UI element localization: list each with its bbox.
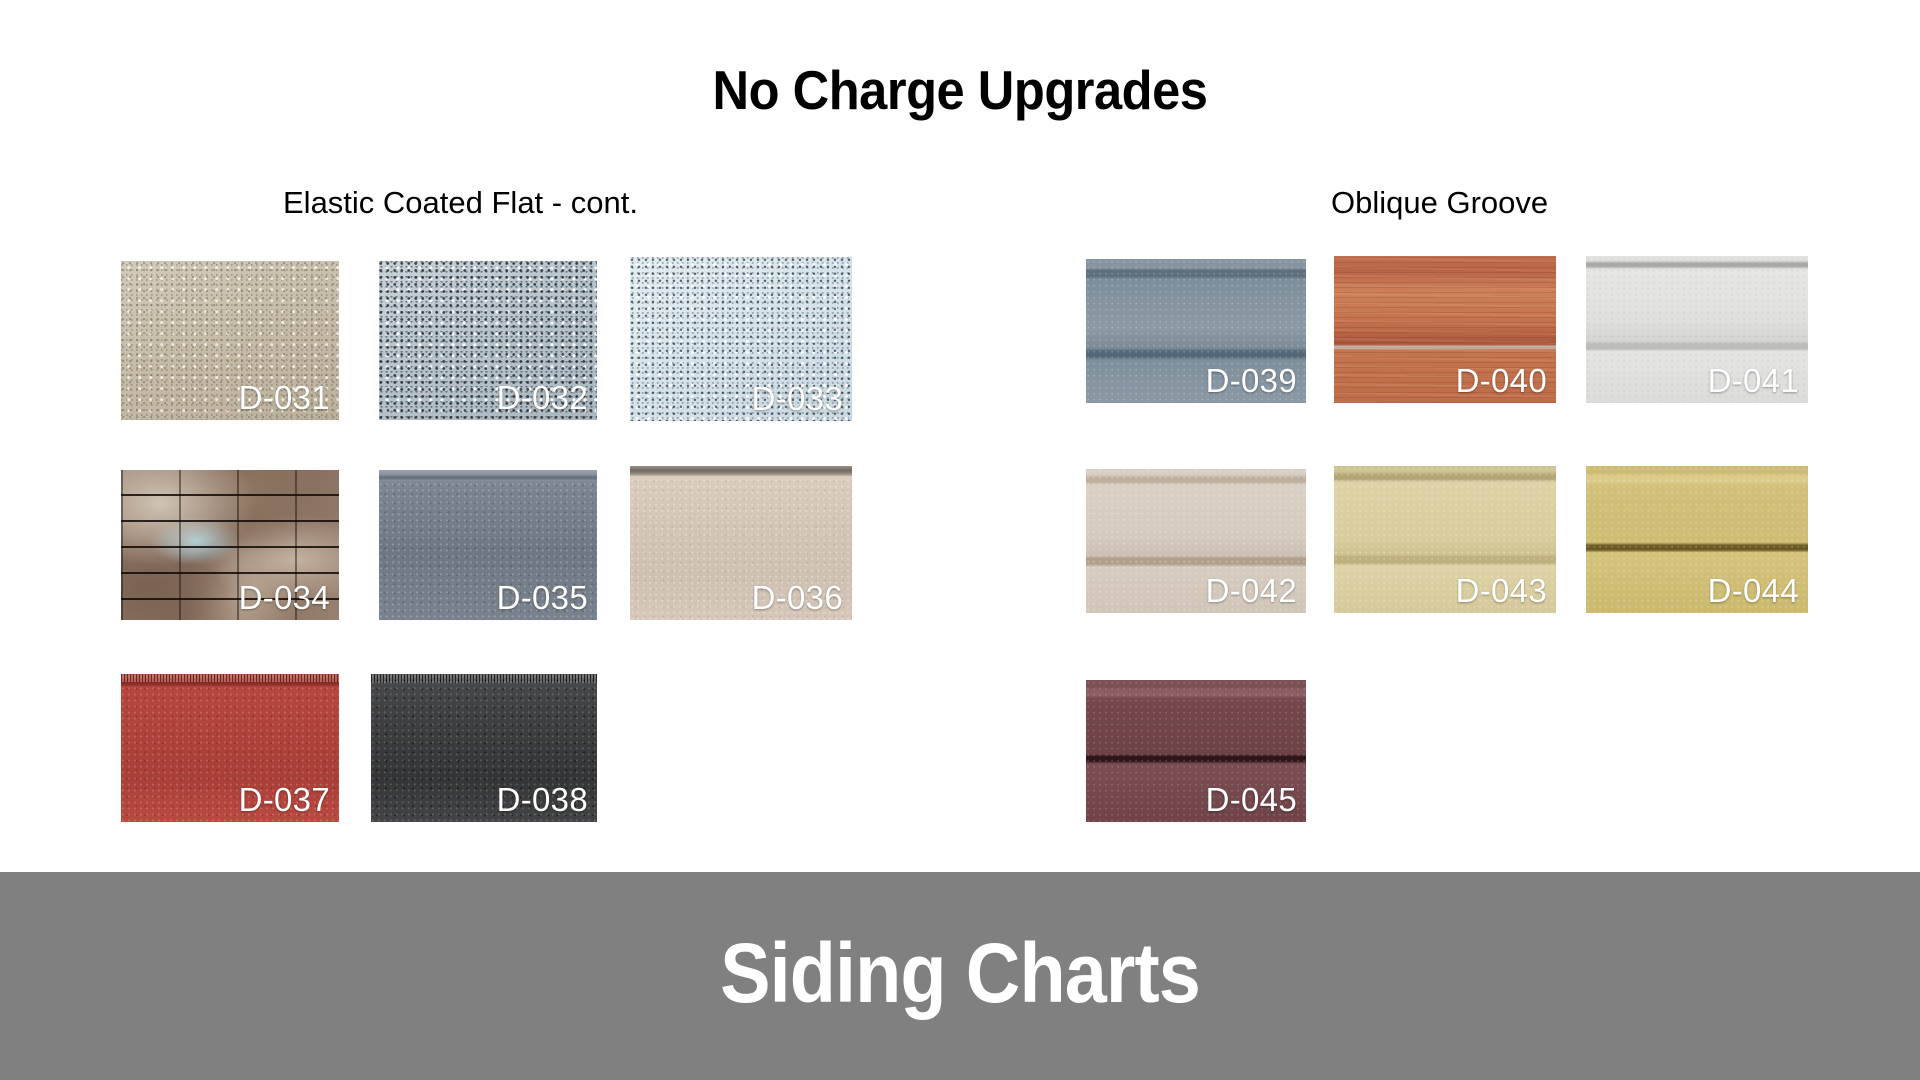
swatch-d042[interactable]: D-042: [1086, 469, 1306, 613]
page-title: No Charge Upgrades: [77, 58, 1843, 122]
swatch-d035[interactable]: D-035: [379, 470, 597, 620]
swatch-label-d037: D-037: [239, 783, 330, 816]
swatch-d044[interactable]: D-044: [1586, 466, 1808, 613]
swatch-d031[interactable]: D-031: [121, 261, 339, 420]
swatch-label-d041: D-041: [1708, 364, 1799, 397]
panel-ridge-d036: [630, 466, 852, 476]
swatch-label-d045: D-045: [1206, 783, 1297, 816]
panel-comb-edge-d037: [121, 674, 339, 682]
swatch-d034[interactable]: D-034: [121, 470, 339, 620]
swatch-label-d034: D-034: [239, 581, 330, 614]
swatch-d045[interactable]: D-045: [1086, 680, 1306, 822]
panel-comb-edge-d038: [371, 674, 597, 683]
siding-chart-page: No Charge Upgrades Elastic Coated Flat -…: [0, 0, 1920, 1080]
swatch-label-d044: D-044: [1708, 574, 1799, 607]
footer-bar: Siding Charts: [0, 872, 1920, 1080]
swatch-label-d040: D-040: [1456, 364, 1547, 397]
panel-ridge-d035: [379, 470, 597, 481]
swatch-label-d039: D-039: [1206, 364, 1297, 397]
swatch-d036[interactable]: D-036: [630, 466, 852, 620]
swatch-label-d038: D-038: [497, 783, 588, 816]
footer-title: Siding Charts: [96, 872, 1824, 1080]
swatch-label-d043: D-043: [1456, 574, 1547, 607]
swatch-label-d031: D-031: [239, 381, 330, 414]
swatch-label-d035: D-035: [497, 581, 588, 614]
swatch-d039[interactable]: D-039: [1086, 259, 1306, 403]
section-header-elastic-coated-flat: Elastic Coated Flat - cont.: [283, 185, 638, 221]
swatch-d033[interactable]: D-033: [630, 257, 852, 421]
swatch-d043[interactable]: D-043: [1334, 466, 1556, 613]
swatch-label-d036: D-036: [752, 581, 843, 614]
swatch-label-d032: D-032: [497, 381, 588, 414]
swatch-d037[interactable]: D-037: [121, 674, 339, 822]
swatch-d040[interactable]: D-040: [1334, 256, 1556, 403]
swatch-label-d033: D-033: [752, 382, 843, 415]
swatch-label-d042: D-042: [1206, 574, 1297, 607]
swatch-d032[interactable]: D-032: [379, 261, 597, 420]
panel-ridge-d037: [121, 682, 339, 687]
section-header-oblique-groove: Oblique Groove: [1331, 185, 1548, 221]
swatch-d041[interactable]: D-041: [1586, 256, 1808, 403]
swatch-d038[interactable]: D-038: [371, 674, 597, 822]
